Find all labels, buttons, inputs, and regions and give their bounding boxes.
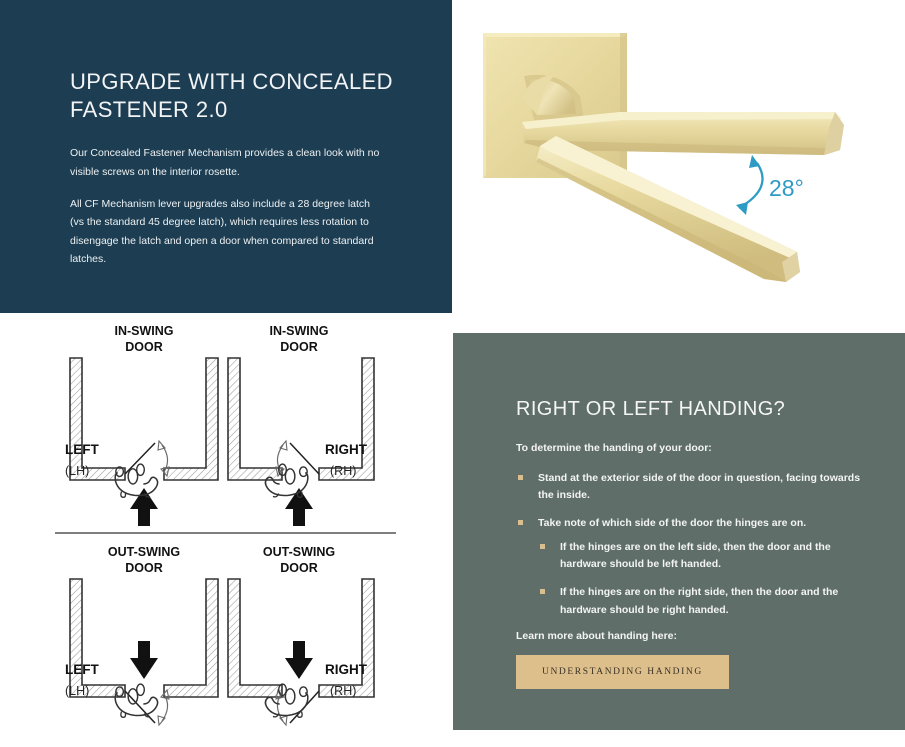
outswing-left-hand-code: (LH) <box>65 684 89 698</box>
inswing-left-hand-label: LEFT <box>65 442 99 457</box>
list-item-text: Take note of which side of the door the … <box>538 517 806 529</box>
angle-label: 28° <box>769 175 804 201</box>
lever-diagonal <box>536 136 800 282</box>
handing-diagram-panel: IN-SWING DOOR LEFT (LH) <box>0 313 452 747</box>
outswing-right-hand-label: RIGHT <box>325 662 368 677</box>
handing-lead: To determine the handing of your door: <box>516 441 875 457</box>
handing-info-content: RIGHT OR LEFT HANDING? To determine the … <box>516 398 875 689</box>
bullet-square-icon <box>518 475 523 480</box>
concealed-fastener-paragraph-1: Our Concealed Fastener Mechanism provide… <box>70 144 385 181</box>
concealed-fastener-panel: UPGRADE WITH CONCEALED FASTENER 2.0 Our … <box>0 0 452 313</box>
outswing-left-title-line2: DOOR <box>125 561 163 575</box>
diagram-outswing-left: OUT-SWING DOOR LEFT (LH) <box>65 545 218 725</box>
page-root: UPGRADE WITH CONCEALED FASTENER 2.0 Our … <box>0 0 905 747</box>
diagram-outswing-right: OUT-SWING DOOR RIGHT (RH) <box>228 545 374 725</box>
lever-photo-panel: 28° <box>452 0 905 313</box>
inswing-right-title-line2: DOOR <box>280 340 318 354</box>
outswing-left-hand-label: LEFT <box>65 662 99 677</box>
bullet-square-icon <box>518 520 523 525</box>
inswing-right-hand-code: (RH) <box>330 464 356 478</box>
handing-title: RIGHT OR LEFT HANDING? <box>516 398 875 421</box>
handing-diagram: IN-SWING DOOR LEFT (LH) <box>0 313 452 747</box>
list-item: If the hinges are on the right side, the… <box>538 584 875 619</box>
concealed-fastener-paragraph-2: All CF Mechanism lever upgrades also inc… <box>70 195 385 269</box>
page-title: UPGRADE WITH CONCEALED FASTENER 2.0 <box>70 68 397 124</box>
handing-steps-list: Stand at the exterior side of the door i… <box>516 470 875 619</box>
inswing-left-hand-code: (LH) <box>65 464 89 478</box>
lever-illustration: 28° <box>452 0 905 313</box>
outswing-right-hand-code: (RH) <box>330 684 356 698</box>
list-item-text: If the hinges are on the left side, then… <box>560 541 831 570</box>
list-item: Stand at the exterior side of the door i… <box>516 470 875 505</box>
outswing-right-title-line2: DOOR <box>280 561 318 575</box>
concealed-fastener-content: UPGRADE WITH CONCEALED FASTENER 2.0 Our … <box>70 68 397 283</box>
outswing-right-title-line1: OUT-SWING <box>263 545 335 559</box>
list-item-text: Stand at the exterior side of the door i… <box>538 472 860 501</box>
inswing-left-title-line2: DOOR <box>125 340 163 354</box>
rotation-angle-annotation: 28° <box>736 155 804 215</box>
understanding-handing-button[interactable]: Understanding Handing <box>516 655 729 689</box>
learn-more-text: Learn more about handing here: <box>516 630 875 642</box>
inswing-left-title-line1: IN-SWING <box>114 324 173 338</box>
handing-info-panel: RIGHT OR LEFT HANDING? To determine the … <box>453 333 905 730</box>
list-item-text: If the hinges are on the right side, the… <box>560 586 838 615</box>
inswing-right-hand-label: RIGHT <box>325 442 368 457</box>
bullet-square-icon <box>540 589 545 594</box>
diagram-inswing-right: IN-SWING DOOR RIGHT (RH) <box>228 324 374 526</box>
handing-substeps-list: If the hinges are on the left side, then… <box>538 539 875 619</box>
list-item: Take note of which side of the door the … <box>516 515 875 619</box>
inswing-right-title-line1: IN-SWING <box>269 324 328 338</box>
bullet-square-icon <box>540 544 545 549</box>
outswing-left-title-line1: OUT-SWING <box>108 545 180 559</box>
list-item: If the hinges are on the left side, then… <box>538 539 875 574</box>
diagram-inswing-left: IN-SWING DOOR LEFT (LH) <box>65 324 218 526</box>
